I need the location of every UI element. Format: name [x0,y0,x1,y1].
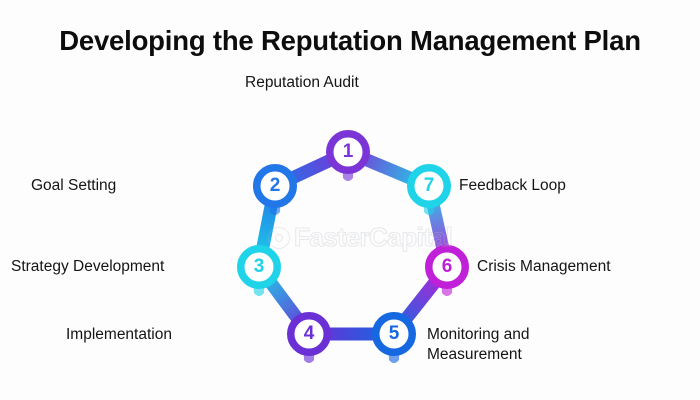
cycle-diagram: 1234567 Reputation AuditGoal SettingStra… [0,0,700,400]
cycle-node-5[interactable] [376,316,413,353]
nodes-layer [241,134,466,353]
cycle-node-7[interactable] [411,168,448,205]
step-label-2: Goal Setting [31,176,116,196]
step-label-7: Feedback Loop [459,176,566,196]
cycle-node-1[interactable] [330,134,367,171]
cycle-node-2[interactable] [257,168,294,205]
cycle-node-6[interactable] [429,249,466,286]
step-label-4: Implementation [66,325,172,345]
step-label-6: Crisis Management [477,257,611,277]
cycle-node-4[interactable] [291,316,328,353]
slide-canvas: Developing the Reputation Management Pla… [0,0,700,400]
cycle-node-3[interactable] [241,249,278,286]
step-label-5: Monitoring and Measurement [427,325,530,366]
step-label-3: Strategy Development [11,257,164,277]
step-label-1: Reputation Audit [245,73,359,93]
